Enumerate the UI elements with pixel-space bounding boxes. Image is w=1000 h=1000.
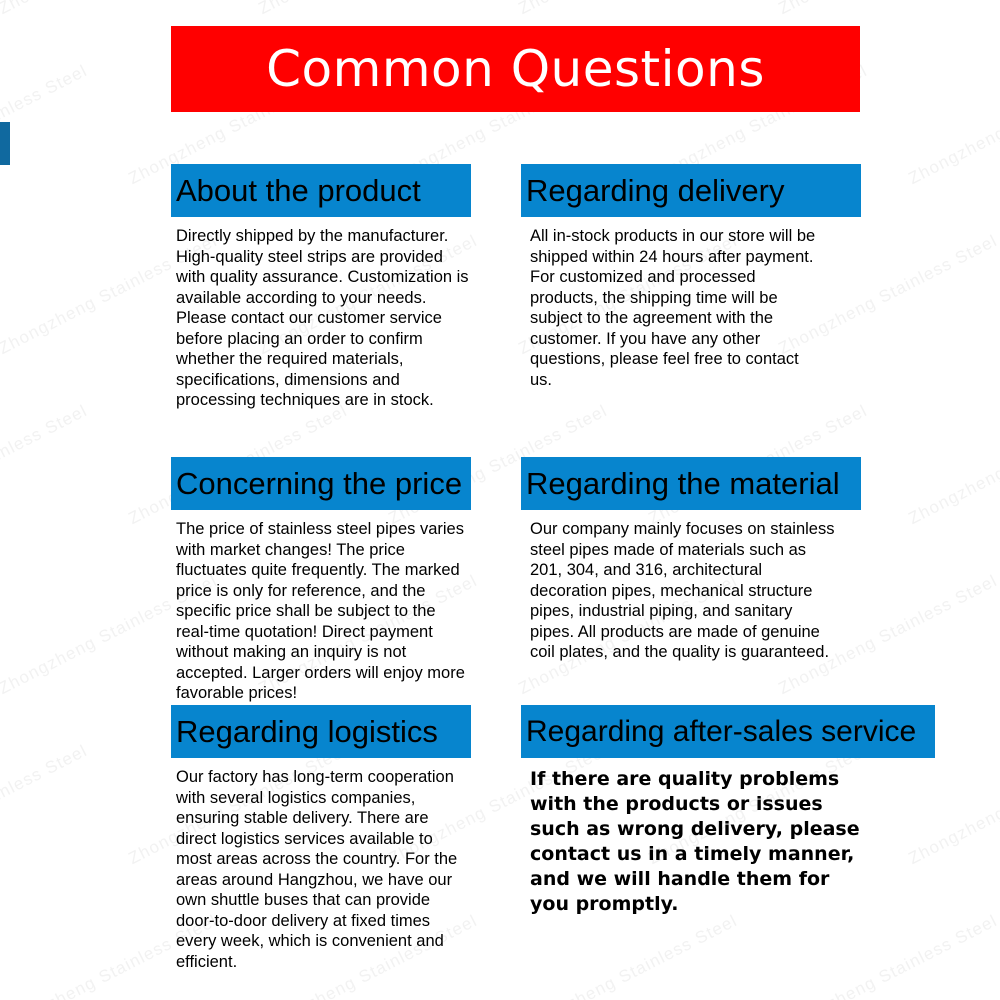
panel-about-the-product: About the product Directly shipped by th…	[171, 164, 471, 411]
panel-regarding-after-sales-service: Regarding after-sales service If there a…	[521, 705, 935, 917]
left-edge-accent-bar	[0, 122, 10, 165]
panel-text: All in-stock products in our store will …	[530, 226, 820, 390]
panel-text: Directly shipped by the manufacturer. Hi…	[176, 226, 471, 411]
panel-body-regarding-delivery: All in-stock products in our store will …	[521, 217, 861, 390]
panel-concerning-the-price: Concerning the price The price of stainl…	[171, 457, 471, 704]
watermark-text: Zhongzheng Stainless Steel	[905, 401, 1000, 529]
watermark-text: Zhongzheng Stainless Steel	[255, 0, 481, 19]
panel-text: The price of stainless steel pipes varie…	[176, 519, 471, 704]
panel-header-regarding-the-material: Regarding the material	[521, 457, 861, 510]
page-title: Common Questions	[266, 44, 765, 94]
panel-regarding-logistics: Regarding logistics Our factory has long…	[171, 705, 471, 972]
panel-title: Concerning the price	[176, 468, 462, 499]
panel-body-regarding-logistics: Our factory has long-term cooperation wi…	[171, 758, 471, 972]
panel-header-regarding-logistics: Regarding logistics	[171, 705, 471, 758]
panel-header-concerning-the-price: Concerning the price	[171, 457, 471, 510]
panel-header-about-the-product: About the product	[171, 164, 471, 217]
panel-body-concerning-the-price: The price of stainless steel pipes varie…	[171, 510, 471, 704]
panel-header-regarding-after-sales-service: Regarding after-sales service	[521, 705, 935, 758]
watermark-text: Zhongzheng Stainless Steel	[775, 911, 1000, 1000]
panel-text: Our company mainly focuses on stainless …	[530, 519, 840, 663]
panel-text: Our factory has long-term cooperation wi…	[176, 767, 471, 972]
panel-body-regarding-the-material: Our company mainly focuses on stainless …	[521, 510, 861, 663]
panel-body-regarding-after-sales-service: If there are quality problems with the p…	[521, 758, 935, 917]
panel-title: Regarding the material	[526, 468, 840, 499]
watermark-text: Zhongzheng Stainless Steel	[0, 0, 221, 19]
panel-text: If there are quality problems with the p…	[530, 767, 860, 917]
panel-title: Regarding after-sales service	[526, 717, 916, 747]
watermark-text: Zhongzheng Stainless Steel	[515, 0, 741, 19]
panel-body-about-the-product: Directly shipped by the manufacturer. Hi…	[171, 217, 471, 411]
faq-page: Zhongzheng Stainless SteelZhongzheng Sta…	[0, 0, 1000, 1000]
panel-regarding-the-material: Regarding the material Our company mainl…	[521, 457, 861, 663]
watermark-text: Zhongzheng Stainless Steel	[515, 911, 741, 1000]
panel-title: About the product	[176, 175, 421, 206]
watermark-text: Zhongzheng Stainless Steel	[905, 61, 1000, 189]
panel-title: Regarding logistics	[176, 716, 438, 747]
title-banner: Common Questions	[171, 26, 860, 112]
watermark-text: Zhongzheng Stainless Steel	[775, 0, 1000, 19]
watermark-text: Zhongzheng Stainless Steel	[0, 61, 91, 189]
panel-regarding-delivery: Regarding delivery All in-stock products…	[521, 164, 861, 390]
watermark-text: Zhongzheng Stainless Steel	[0, 401, 91, 529]
watermark-text: Zhongzheng Stainless Steel	[0, 741, 91, 869]
panel-title: Regarding delivery	[526, 175, 784, 206]
panel-header-regarding-delivery: Regarding delivery	[521, 164, 861, 217]
